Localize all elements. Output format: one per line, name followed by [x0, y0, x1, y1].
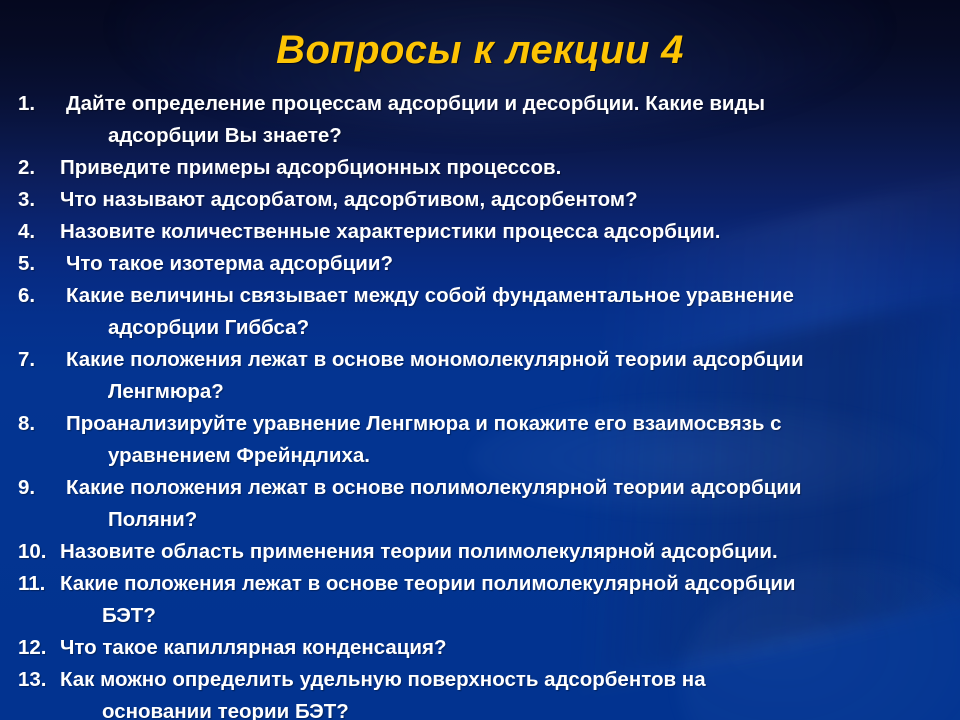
- question-item: 8.Проанализируйте уравнение Ленгмюра и п…: [18, 408, 944, 472]
- question-text: Что такое капиллярная конденсация?: [60, 632, 944, 664]
- question-text-line-1: Приведите примеры адсорбционных процессо…: [60, 156, 561, 179]
- question-text-line-1: Назовите область применения теории полим…: [60, 540, 778, 563]
- question-item: 13.Как можно определить удельную поверхн…: [18, 664, 944, 720]
- question-item: 5.Что такое изотерма адсорбции?: [18, 248, 944, 280]
- question-list: 1.Дайте определение процессам адсорбции …: [18, 88, 944, 720]
- question-text-line-2: уравнением Фрейндлиха.: [66, 440, 944, 472]
- question-text: Какие положения лежат в основе мономолек…: [66, 344, 944, 408]
- question-number: 4.: [18, 216, 60, 248]
- question-item: 4.Назовите количественные характеристики…: [18, 216, 944, 248]
- question-text-line-1: Какие положения лежат в основе теории по…: [60, 572, 796, 595]
- question-text-line-1: Какие величины связывает между собой фун…: [66, 284, 794, 307]
- question-text: Какие положения лежат в основе полимолек…: [66, 472, 944, 536]
- question-text-line-2: БЭТ?: [60, 600, 944, 632]
- question-text: Дайте определение процессам адсорбции и …: [66, 88, 944, 152]
- question-text-line-1: Что называют адсорбатом, адсорбтивом, ад…: [60, 188, 638, 211]
- question-number: 2.: [18, 152, 60, 184]
- question-text: Какие величины связывает между собой фун…: [66, 280, 944, 344]
- question-text-line-2: Ленгмюра?: [66, 376, 944, 408]
- question-text-line-2: Поляни?: [66, 504, 944, 536]
- question-text-line-1: Проанализируйте уравнение Ленгмюра и пок…: [66, 412, 782, 435]
- slide-title: Вопросы к лекции 4: [0, 26, 960, 74]
- question-text-line-1: Что такое изотерма адсорбции?: [66, 252, 393, 275]
- question-text: Что такое изотерма адсорбции?: [66, 248, 944, 280]
- question-number: 13.: [18, 664, 60, 696]
- question-text-line-1: Назовите количественные характеристики п…: [60, 220, 720, 243]
- question-item: 11.Какие положения лежат в основе теории…: [18, 568, 944, 632]
- question-item: 7.Какие положения лежат в основе мономол…: [18, 344, 944, 408]
- question-text-line-1: Какие положения лежат в основе полимолек…: [66, 476, 802, 499]
- question-number: 12.: [18, 632, 60, 664]
- question-number: 10.: [18, 536, 60, 568]
- question-text: Что называют адсорбатом, адсорбтивом, ад…: [60, 184, 944, 216]
- question-text-line-2: адсорбции Вы знаете?: [66, 120, 944, 152]
- question-number: 11.: [18, 568, 60, 600]
- question-text: Приведите примеры адсорбционных процессо…: [60, 152, 944, 184]
- question-text: Назовите количественные характеристики п…: [60, 216, 944, 248]
- question-number: 3.: [18, 184, 60, 216]
- question-item: 10.Назовите область применения теории по…: [18, 536, 944, 568]
- question-text-line-2: основании теории БЭТ?: [60, 696, 944, 720]
- question-text: Как можно определить удельную поверхност…: [60, 664, 944, 720]
- question-text: Назовите область применения теории полим…: [60, 536, 944, 568]
- question-item: 1.Дайте определение процессам адсорбции …: [18, 88, 944, 152]
- question-text: Какие положения лежат в основе теории по…: [60, 568, 944, 632]
- question-text-line-2: адсорбции Гиббса?: [66, 312, 944, 344]
- question-text-line-1: Что такое капиллярная конденсация?: [60, 636, 447, 659]
- question-text: Проанализируйте уравнение Ленгмюра и пок…: [66, 408, 944, 472]
- question-text-line-1: Дайте определение процессам адсорбции и …: [66, 92, 765, 115]
- question-item: 9.Какие положения лежат в основе полимол…: [18, 472, 944, 536]
- question-text-line-1: Как можно определить удельную поверхност…: [60, 668, 706, 691]
- presentation-slide: Вопросы к лекции 4 1.Дайте определение п…: [0, 0, 960, 720]
- question-item: 12.Что такое капиллярная конденсация?: [18, 632, 944, 664]
- question-item: 2.Приведите примеры адсорбционных процес…: [18, 152, 944, 184]
- question-item: 6.Какие величины связывает между собой ф…: [18, 280, 944, 344]
- question-item: 3.Что называют адсорбатом, адсорбтивом, …: [18, 184, 944, 216]
- question-text-line-1: Какие положения лежат в основе мономолек…: [66, 348, 804, 371]
